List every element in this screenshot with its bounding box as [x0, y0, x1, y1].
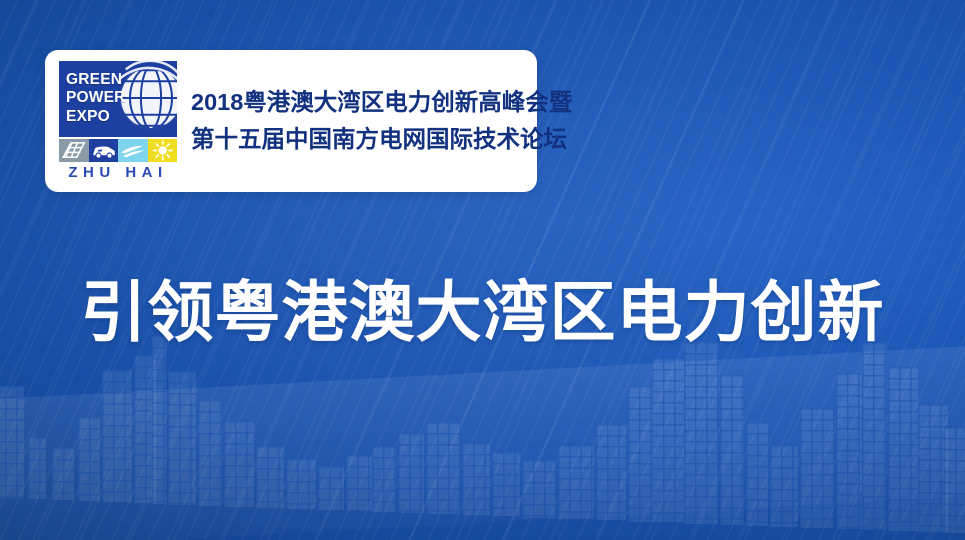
logo-word-green: GREEN [66, 71, 126, 90]
event-title-line-2: 第十五届中国南方电网国际技术论坛 [191, 128, 572, 152]
electric-car-icon [89, 139, 119, 162]
logo-word-expo: EXPO [66, 108, 126, 127]
wind-icon [118, 139, 148, 162]
event-title-block: 2018粤港澳大湾区电力创新高峰会暨 第十五届中国南方电网国际技术论坛 [177, 91, 582, 151]
poster-canvas: GREEN POWER EXPO [0, 0, 965, 540]
logo-wordmark: GREEN POWER EXPO [59, 71, 126, 127]
poster-headline: 引领粤港澳大湾区电力创新 [0, 279, 965, 345]
solar-panel-icon [59, 139, 89, 162]
logo-icon-tiles [59, 139, 177, 162]
logo-city-name: ZHU HAI [59, 165, 177, 182]
green-power-expo-logo: GREEN POWER EXPO [59, 61, 177, 182]
event-title-line-1: 2018粤港澳大湾区电力创新高峰会暨 [191, 91, 572, 115]
sun-icon [148, 139, 178, 162]
logo-blue-panel: GREEN POWER EXPO [59, 61, 177, 137]
event-logo-card: GREEN POWER EXPO [45, 50, 537, 192]
logo-word-power: POWER [66, 89, 126, 108]
